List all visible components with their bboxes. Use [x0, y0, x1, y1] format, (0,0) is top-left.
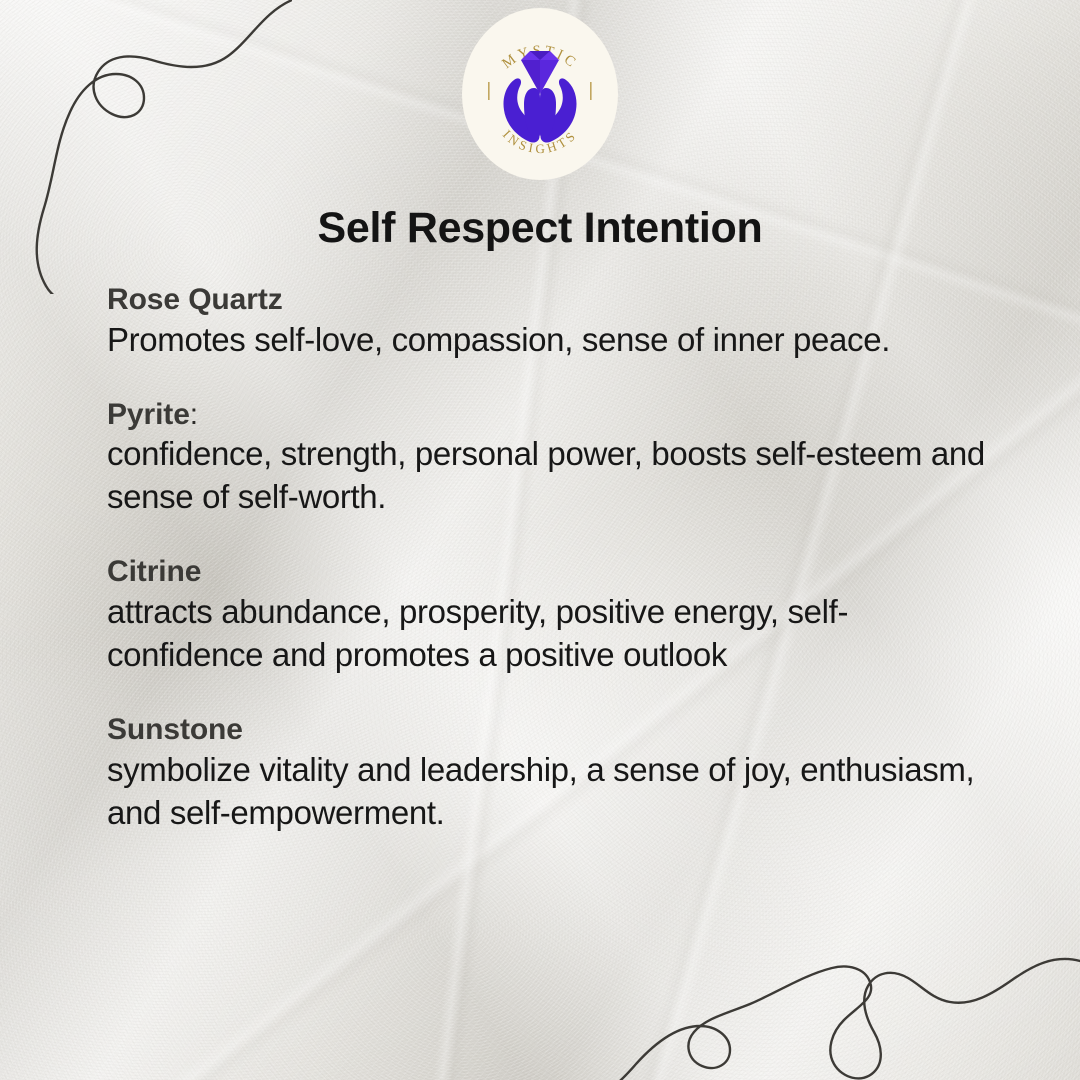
- stone-name-pyrite: Pyrite:: [107, 396, 987, 434]
- stone-name-rose-quartz: Rose Quartz: [107, 281, 987, 319]
- logo-left-tick-icon: [488, 82, 490, 100]
- stone-name-sunstone: Sunstone: [107, 711, 987, 749]
- logo-right-tick-icon: [590, 82, 592, 100]
- stone-entry-citrine: Citrine attracts abundance, prosperity, …: [107, 553, 987, 677]
- stone-entry-pyrite: Pyrite: confidence, strength, personal p…: [107, 396, 987, 520]
- stone-description-rose-quartz: Promotes self-love, compassion, sense of…: [107, 319, 987, 362]
- stone-description-citrine: attracts abundance, prosperity, positive…: [107, 591, 987, 677]
- stone-entry-rose-quartz: Rose Quartz Promotes self-love, compassi…: [107, 281, 987, 362]
- mystic-insights-logo: MYSTIC INSIGHTS: [462, 8, 618, 180]
- stone-name-citrine: Citrine: [107, 553, 987, 591]
- stone-entry-sunstone: Sunstone symbolize vitality and leadersh…: [107, 711, 987, 835]
- stone-description-pyrite: confidence, strength, personal power, bo…: [107, 433, 987, 519]
- gem-icon: [521, 51, 559, 94]
- stone-description-sunstone: symbolize vitality and leadership, a sen…: [107, 749, 987, 835]
- page-title: Self Respect Intention: [0, 204, 1080, 253]
- stone-list: Rose Quartz Promotes self-love, compassi…: [107, 281, 987, 834]
